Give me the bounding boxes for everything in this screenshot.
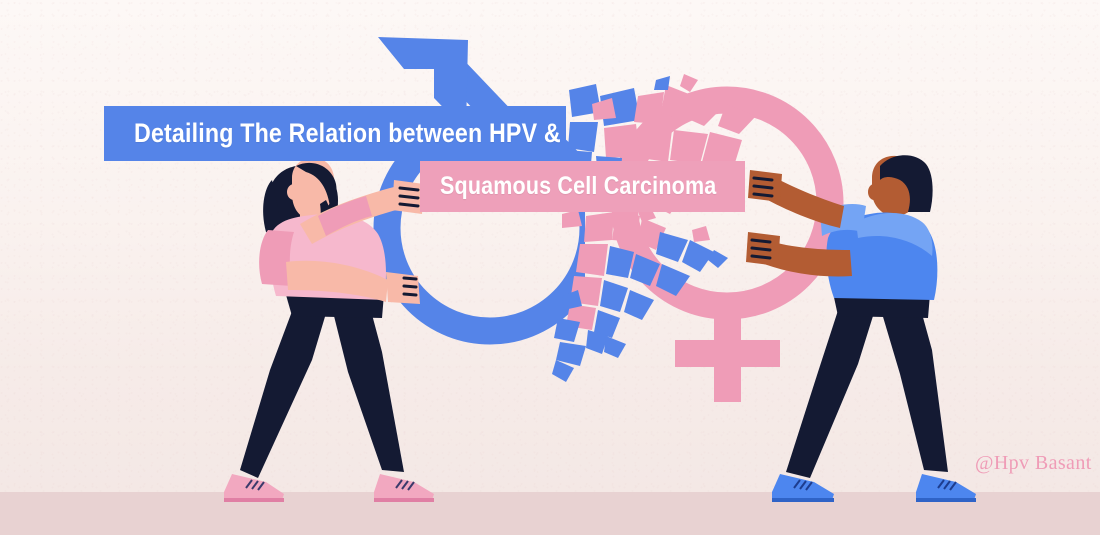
headline-line-1: Detailing The Relation between HPV & (134, 118, 561, 149)
woman-ear (287, 184, 301, 200)
man-front-leg (878, 292, 948, 472)
man-front-shoe-sole (916, 498, 976, 502)
watermark-credit: @Hpv Basant (975, 452, 1092, 475)
illustration-layer (0, 0, 1100, 535)
woman-front-leg (330, 292, 404, 472)
headline-line-2: Squamous Cell Carcinoma (440, 172, 716, 201)
man-back-leg (786, 292, 878, 478)
woman-back-shoe-sole (224, 498, 284, 502)
man-back-shoe-sole (772, 498, 834, 502)
woman-front-shoe-sole (374, 498, 434, 502)
woman-figure (224, 158, 434, 502)
poster-canvas: Detailing The Relation between HPV & Squ… (0, 0, 1100, 535)
man-ear (868, 184, 880, 200)
woman-back-leg (240, 290, 330, 478)
man-back-shoe (772, 474, 834, 500)
headline-banner-secondary: Squamous Cell Carcinoma (420, 161, 745, 212)
venus-crossbar (675, 340, 780, 367)
headline-banner-primary: Detailing The Relation between HPV & (104, 106, 566, 161)
man-figure (746, 155, 976, 502)
